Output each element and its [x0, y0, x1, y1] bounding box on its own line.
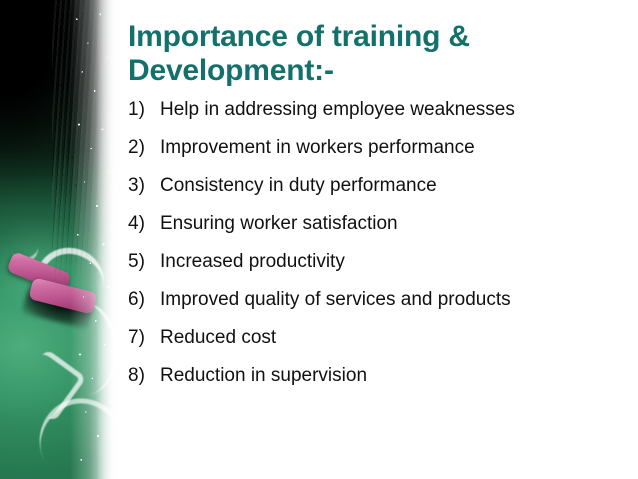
bullet-list: 1) Help in addressing employee weaknesse… — [128, 87, 628, 404]
list-item-label: Ensuring worker satisfaction — [160, 214, 398, 233]
list-item-label: Reduced cost — [160, 328, 276, 347]
title-line-1: Importance of training & — [128, 20, 470, 53]
list-item-label: Reduction in supervision — [160, 366, 367, 385]
list-item-label: Improvement in workers performance — [160, 138, 475, 157]
page-title: Importance of training & Development:- — [128, 0, 508, 87]
list-item-number: 1) — [128, 100, 160, 119]
list-item-number: 5) — [128, 252, 160, 271]
chalkboard-photo — [0, 0, 126, 479]
slide-content: Importance of training & Development:- 1… — [128, 0, 628, 479]
list-item-number: 4) — [128, 214, 160, 233]
list-item-label: Help in addressing employee weaknesses — [160, 100, 515, 119]
list-item-label: Increased productivity — [160, 252, 345, 271]
list-item: 6) Improved quality of services and prod… — [128, 290, 628, 328]
list-item: 3) Consistency in duty performance — [128, 176, 628, 214]
photo-fade — [96, 0, 126, 479]
list-item-number: 6) — [128, 290, 160, 309]
list-item-label: Improved quality of services and product… — [160, 290, 511, 309]
list-item-label: Consistency in duty performance — [160, 176, 437, 195]
list-item-number: 8) — [128, 366, 160, 385]
list-item: 1) Help in addressing employee weaknesse… — [128, 100, 628, 138]
list-item: 4) Ensuring worker satisfaction — [128, 214, 628, 252]
list-item: 7) Reduced cost — [128, 328, 628, 366]
list-item: 8) Reduction in supervision — [128, 366, 628, 404]
list-item: 5) Increased productivity — [128, 252, 628, 290]
list-item-number: 3) — [128, 176, 160, 195]
list-item: 2) Improvement in workers performance — [128, 138, 628, 176]
slide: Importance of training & Development:- 1… — [0, 0, 638, 479]
title-line-2: Development:- — [128, 54, 334, 87]
list-item-number: 7) — [128, 328, 160, 347]
list-item-number: 2) — [128, 138, 160, 157]
